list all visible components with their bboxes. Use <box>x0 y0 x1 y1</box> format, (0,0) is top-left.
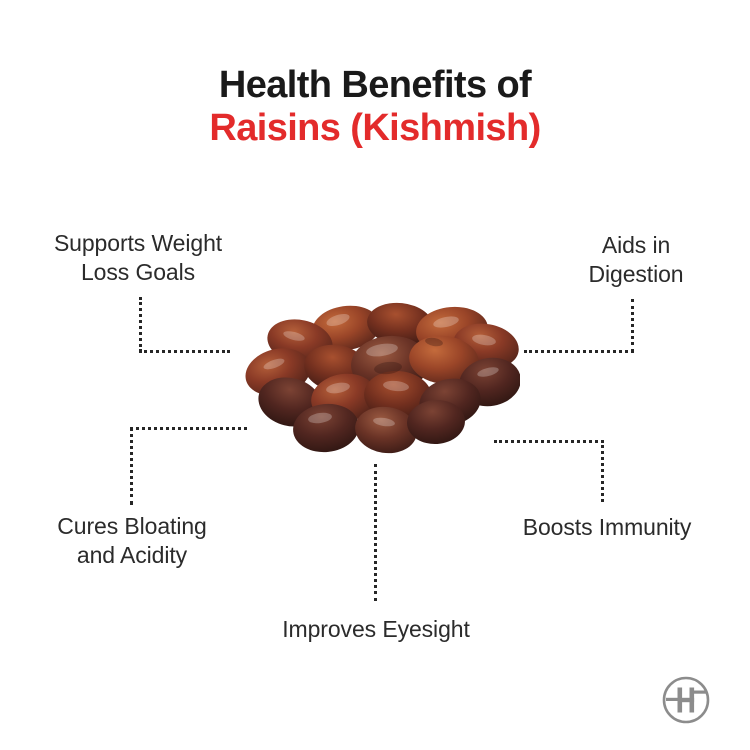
connector-weight-loss-horizontal <box>139 350 230 353</box>
raisins-image <box>238 298 520 460</box>
infographic-canvas: Health Benefits of Raisins (Kishmish) Su… <box>0 0 750 750</box>
ht-logo-icon <box>660 674 712 726</box>
benefit-label-immunity: Boosts Immunity <box>480 513 734 542</box>
connector-bloating-vertical <box>130 427 133 505</box>
page-title: Health Benefits of Raisins (Kishmish) <box>0 64 750 151</box>
benefit-label-eyesight: Improves Eyesight <box>248 615 504 644</box>
connector-digestion-vertical <box>631 299 634 352</box>
title-line-primary: Health Benefits of <box>0 64 750 107</box>
connector-digestion-horizontal <box>524 350 634 353</box>
connector-eyesight-vertical <box>374 464 377 601</box>
title-line-highlight: Raisins (Kishmish) <box>0 107 750 150</box>
connector-weight-loss-vertical <box>139 297 142 352</box>
benefit-label-bloating: Cures Bloating and Acidity <box>14 512 250 571</box>
benefit-label-digestion: Aids in Digestion <box>540 231 732 290</box>
benefit-label-weight-loss: Supports Weight Loss Goals <box>18 229 258 288</box>
connector-immunity-vertical <box>601 440 604 502</box>
connector-bloating-horizontal <box>130 427 247 430</box>
